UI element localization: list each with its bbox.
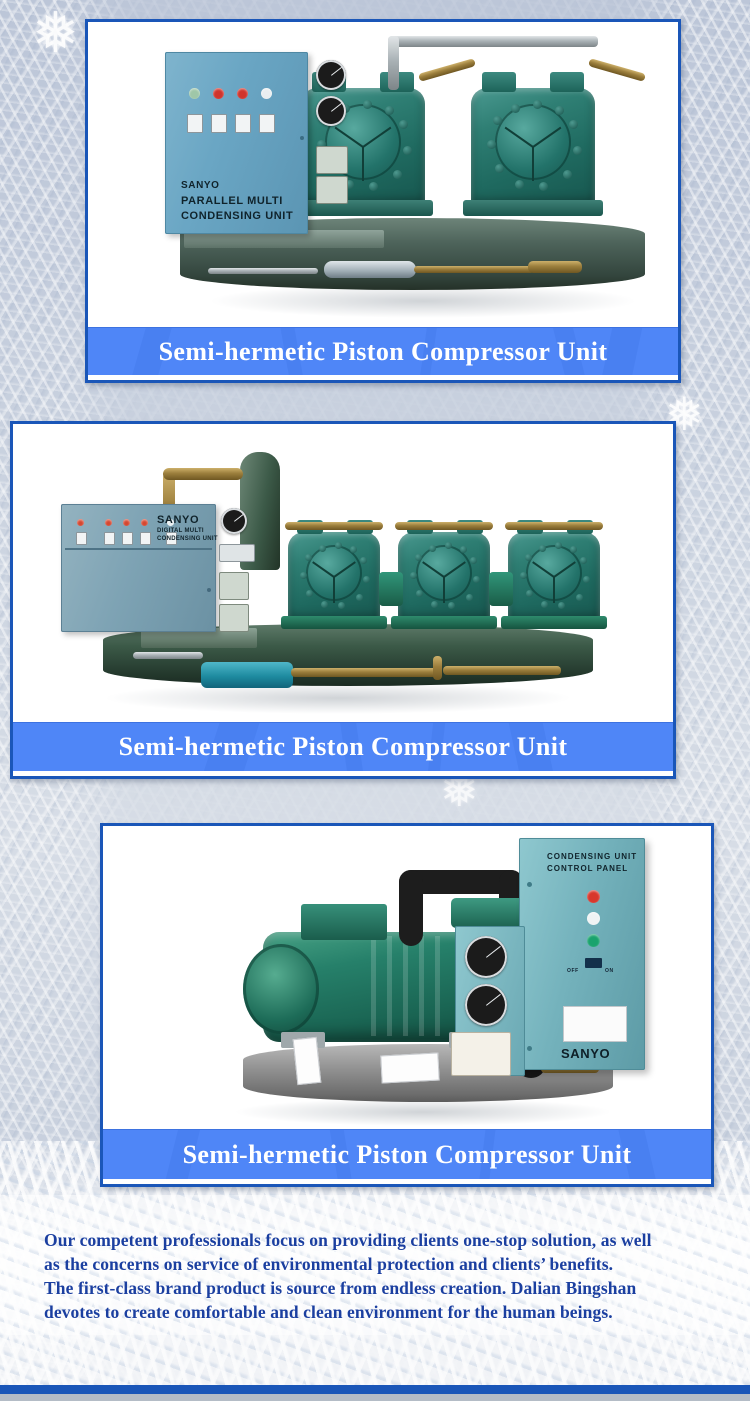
compressor-head bbox=[508, 532, 600, 622]
pressure-gauge bbox=[221, 508, 247, 534]
panel-caption-3: Semi-hermetic Piston Compressor Unit bbox=[103, 1129, 711, 1179]
ground-shadow bbox=[233, 1098, 613, 1126]
compressor-head bbox=[398, 532, 490, 622]
contactor bbox=[219, 604, 249, 632]
product-photo-1: SANYO PARALLEL MULTI CONDENSING UNIT bbox=[88, 22, 678, 327]
indicator-lamp bbox=[587, 912, 600, 925]
compressor-base bbox=[293, 200, 433, 216]
contactor bbox=[316, 146, 348, 174]
cylinder-cover bbox=[550, 72, 584, 92]
toggle-switch[interactable] bbox=[187, 114, 203, 133]
toggle-switch[interactable] bbox=[235, 114, 251, 133]
terminal-box bbox=[301, 904, 387, 940]
cylinder-cover bbox=[482, 72, 516, 92]
compressor-head bbox=[288, 532, 380, 622]
ground-shadow bbox=[103, 682, 573, 714]
toggle-switch[interactable] bbox=[104, 532, 115, 545]
blurb-line-3: The first-class brand product is source … bbox=[44, 1276, 724, 1300]
brand-label: SANYO bbox=[561, 1046, 610, 1061]
pressure-gauge bbox=[465, 936, 507, 978]
liquid-line-pipe bbox=[443, 666, 561, 675]
product-photo-3: CONDENSING UNIT CONTROL PANEL OFF ON SAN… bbox=[103, 826, 711, 1129]
compressor-base bbox=[391, 616, 497, 629]
indicator-lamp bbox=[237, 88, 248, 99]
pressure-gauge bbox=[465, 984, 507, 1026]
cooling-fin bbox=[403, 936, 408, 1036]
brand-label: SANYO bbox=[157, 514, 199, 526]
company-blurb: Our competent professionals focus on pro… bbox=[44, 1228, 724, 1324]
toggle-switch[interactable] bbox=[76, 532, 87, 545]
product-photo-2: SANYO DIGITAL MULTI CONDENSING UNIT bbox=[13, 424, 673, 722]
cooling-fin bbox=[419, 936, 424, 1036]
indicator-lamp bbox=[189, 88, 200, 99]
pressure-gauge bbox=[316, 96, 346, 126]
blurb-line-1: Our competent professionals focus on pro… bbox=[44, 1228, 724, 1252]
suction-pipe bbox=[208, 268, 318, 274]
oil-level-regulator bbox=[379, 572, 403, 606]
product-panel-1[interactable]: SANYO PARALLEL MULTI CONDENSING UNIT Sem… bbox=[85, 19, 681, 383]
indicator-lamp bbox=[261, 88, 272, 99]
control-panel-line-2: CONTROL PANEL bbox=[547, 864, 628, 873]
indicator-lamp bbox=[587, 934, 600, 947]
compressor-base bbox=[281, 616, 387, 629]
cooling-fin bbox=[387, 936, 392, 1036]
control-panel-line-1: CONDENSING UNIT bbox=[547, 852, 637, 861]
hang-tag bbox=[293, 1037, 322, 1085]
indicator-lamp bbox=[77, 519, 84, 526]
discharge-pipe bbox=[395, 522, 493, 530]
blurb-line-2: as the concerns on service of environmen… bbox=[44, 1252, 724, 1276]
caption-text: Semi-hermetic Piston Compressor Unit bbox=[88, 328, 678, 375]
discharge-pipe bbox=[285, 522, 383, 530]
service-valve bbox=[528, 261, 582, 273]
contactor bbox=[219, 572, 249, 600]
compressor-base bbox=[501, 616, 607, 629]
cooling-fin bbox=[371, 936, 376, 1036]
panel-screw bbox=[527, 882, 532, 887]
caption-text: Semi-hermetic Piston Compressor Unit bbox=[13, 723, 673, 771]
oil-line bbox=[418, 58, 476, 82]
bottom-gray-strip bbox=[0, 1394, 750, 1401]
switch-label-on: ON bbox=[605, 968, 614, 974]
toggle-switch[interactable] bbox=[259, 114, 275, 133]
blurb-line-4: devotes to create comfortable and clean … bbox=[44, 1300, 724, 1324]
contactor bbox=[316, 176, 348, 204]
control-panel-line-1: DIGITAL MULTI bbox=[157, 528, 204, 534]
control-panel-line-2: CONDENSING UNIT bbox=[181, 210, 293, 222]
discharge-header bbox=[388, 36, 598, 47]
indicator-lamp bbox=[587, 890, 600, 903]
liquid-line-pipe bbox=[414, 266, 534, 273]
copper-crossover bbox=[163, 468, 243, 480]
panel-seam bbox=[65, 548, 212, 550]
panel-screw bbox=[527, 1046, 532, 1051]
discharge-riser bbox=[388, 36, 399, 90]
oil-line bbox=[588, 58, 646, 82]
control-panel-line-1: PARALLEL MULTI bbox=[181, 195, 283, 207]
toggle-switch[interactable] bbox=[140, 532, 151, 545]
indicator-lamp bbox=[141, 519, 148, 526]
suction-pipe bbox=[133, 652, 203, 659]
pressure-control-switch[interactable] bbox=[451, 1032, 511, 1076]
electrical-control-panel[interactable]: SANYO DIGITAL MULTI CONDENSING UNIT bbox=[61, 504, 216, 632]
terminal-block bbox=[219, 544, 255, 562]
discharge-pipe bbox=[505, 522, 603, 530]
switch-label-off: OFF bbox=[567, 968, 579, 974]
liquid-line-pipe bbox=[291, 668, 441, 677]
electrical-control-panel[interactable]: SANYO PARALLEL MULTI CONDENSING UNIT bbox=[165, 52, 308, 234]
product-panel-3[interactable]: CONDENSING UNIT CONTROL PANEL OFF ON SAN… bbox=[100, 823, 714, 1187]
panel-latch[interactable] bbox=[207, 588, 211, 592]
panel-caption-1: Semi-hermetic Piston Compressor Unit bbox=[88, 327, 678, 375]
compressor-head bbox=[471, 88, 595, 206]
insulated-suction-line bbox=[399, 870, 423, 946]
pressure-gauge bbox=[316, 60, 346, 90]
filter-drier bbox=[324, 261, 416, 278]
oil-level-regulator bbox=[489, 572, 513, 606]
panel-latch[interactable] bbox=[300, 136, 304, 140]
caption-text: Semi-hermetic Piston Compressor Unit bbox=[103, 1130, 711, 1179]
toggle-switch[interactable] bbox=[211, 114, 227, 133]
motor-end-bell bbox=[243, 944, 319, 1034]
indicator-lamp bbox=[213, 88, 224, 99]
rating-plate bbox=[563, 1006, 627, 1042]
toggle-switch[interactable] bbox=[122, 532, 133, 545]
brand-label: SANYO bbox=[181, 180, 220, 191]
panel-caption-2: Semi-hermetic Piston Compressor Unit bbox=[13, 722, 673, 771]
electrical-control-panel[interactable]: CONDENSING UNIT CONTROL PANEL OFF ON SAN… bbox=[519, 838, 645, 1070]
compressor-base bbox=[463, 200, 603, 216]
bottom-accent-rule bbox=[0, 1385, 750, 1394]
indicator-lamp bbox=[123, 519, 130, 526]
valve-stem bbox=[433, 656, 442, 680]
product-banner-page: ❅ ❅ ❅ bbox=[0, 0, 750, 1401]
power-switch[interactable] bbox=[585, 958, 602, 968]
indicator-lamp bbox=[105, 519, 112, 526]
hang-tag bbox=[380, 1053, 439, 1084]
control-panel-line-2: CONDENSING UNIT bbox=[157, 536, 218, 542]
product-panel-2[interactable]: SANYO DIGITAL MULTI CONDENSING UNIT Semi… bbox=[10, 421, 676, 779]
cooling-fin bbox=[435, 936, 440, 1036]
suction-accumulator bbox=[201, 662, 293, 688]
